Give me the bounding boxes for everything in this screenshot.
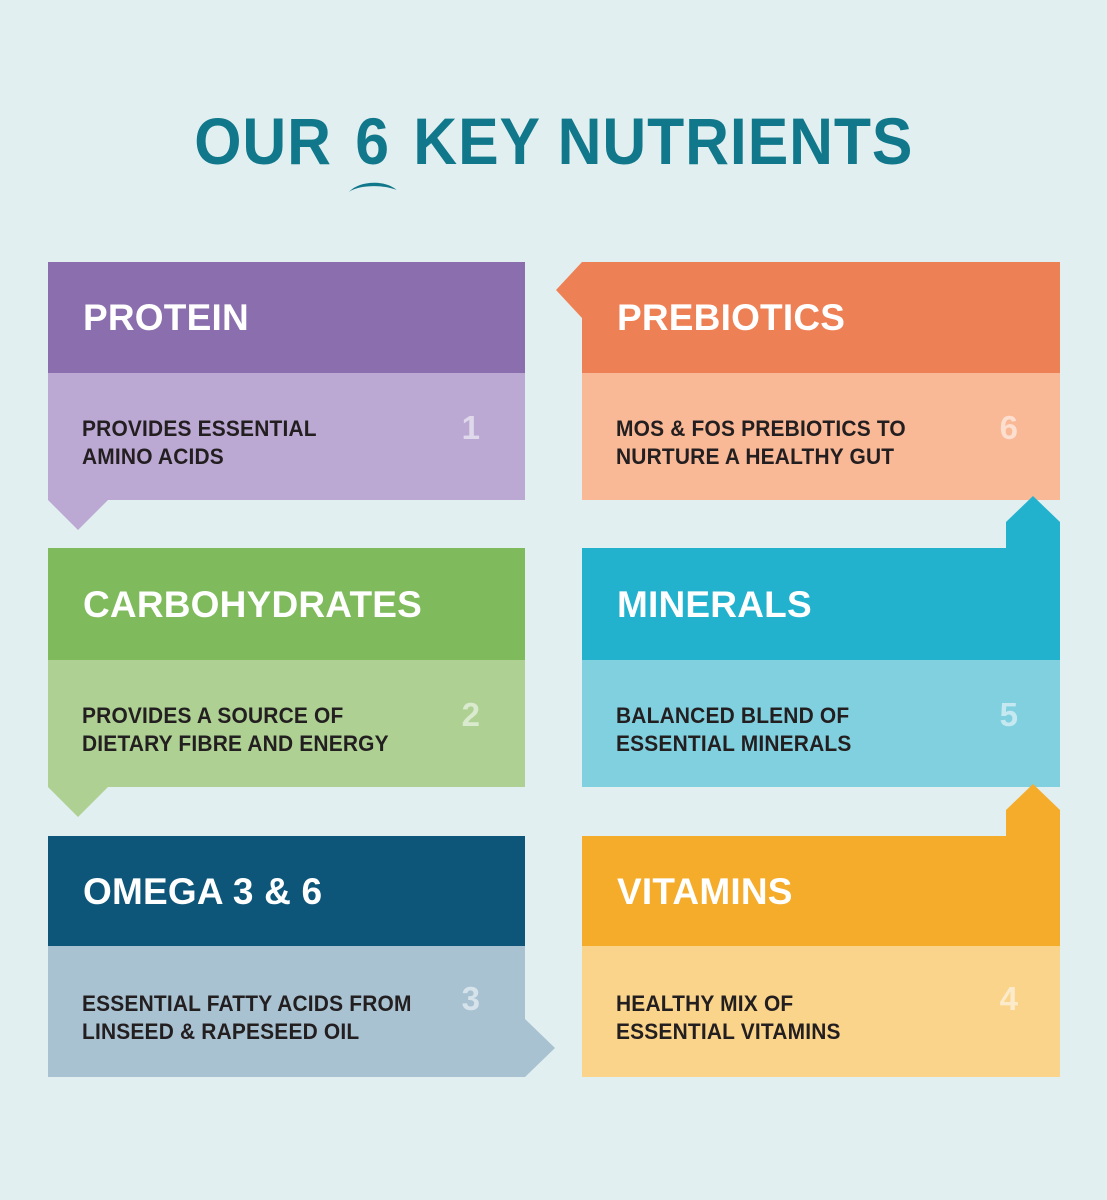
card-description: MOS & FOS PREBIOTICS TO NURTURE A HEALTH… — [616, 415, 906, 471]
pointer-tail-down-icon — [48, 787, 108, 817]
nutrient-card-prebiotics[interactable]: PREBIOTICS MOS & FOS PREBIOTICS TO NURTU… — [582, 262, 1060, 500]
card-title: CARBOHYDRATES — [83, 586, 422, 623]
card-title: OMEGA 3 & 6 — [83, 873, 322, 910]
card-number: 1 — [462, 411, 480, 444]
card-description: ESSENTIAL FATTY ACIDS FROM LINSEED & RAP… — [82, 990, 412, 1046]
card-header: MINERALS — [582, 548, 1060, 660]
card-title: PROTEIN — [83, 299, 249, 336]
card-number: 2 — [462, 698, 480, 731]
nutrient-card-vitamins[interactable]: VITAMINS HEALTHY MIX OF ESSENTIAL VITAMI… — [582, 836, 1060, 1077]
card-description: PROVIDES A SOURCE OF DIETARY FIBRE AND E… — [82, 702, 389, 758]
pointer-arrow-up-stem — [1006, 810, 1060, 836]
card-description: BALANCED BLEND OF ESSENTIAL MINERALS — [616, 702, 851, 758]
card-body: ESSENTIAL FATTY ACIDS FROM LINSEED & RAP… — [48, 946, 525, 1077]
card-body: PROVIDES ESSENTIAL AMINO ACIDS 1 — [48, 373, 525, 500]
card-header: VITAMINS — [582, 836, 1060, 946]
card-description: HEALTHY MIX OF ESSENTIAL VITAMINS — [616, 990, 841, 1046]
nutrient-card-omega[interactable]: OMEGA 3 & 6 ESSENTIAL FATTY ACIDS FROM L… — [48, 836, 525, 1077]
pointer-arrow-up-stem — [1006, 522, 1060, 548]
nutrient-card-minerals[interactable]: MINERALS BALANCED BLEND OF ESSENTIAL MIN… — [582, 548, 1060, 787]
card-number: 5 — [1000, 698, 1018, 731]
card-title: MINERALS — [617, 586, 812, 623]
card-description: PROVIDES ESSENTIAL AMINO ACIDS — [82, 415, 317, 471]
pointer-arrow-right-icon — [525, 1019, 555, 1077]
card-body: BALANCED BLEND OF ESSENTIAL MINERALS 5 — [582, 660, 1060, 787]
card-body: PROVIDES A SOURCE OF DIETARY FIBRE AND E… — [48, 660, 525, 787]
card-header: PROTEIN — [48, 262, 525, 373]
nutrient-card-carbohydrates[interactable]: CARBOHYDRATES PROVIDES A SOURCE OF DIETA… — [48, 548, 525, 787]
card-number: 3 — [462, 982, 480, 1015]
card-body: HEALTHY MIX OF ESSENTIAL VITAMINS 4 — [582, 946, 1060, 1077]
card-header: CARBOHYDRATES — [48, 548, 525, 660]
pointer-arrow-up-icon — [1006, 496, 1060, 522]
card-title: VITAMINS — [617, 873, 793, 910]
nutrient-card-grid: PROTEIN PROVIDES ESSENTIAL AMINO ACIDS 1… — [0, 0, 1107, 1200]
pointer-tail-down-icon — [48, 500, 108, 530]
card-header: OMEGA 3 & 6 — [48, 836, 525, 946]
card-title: PREBIOTICS — [617, 299, 845, 336]
card-number: 6 — [1000, 411, 1018, 444]
card-header: PREBIOTICS — [582, 262, 1060, 373]
pointer-arrow-up-icon — [1006, 784, 1060, 810]
nutrient-card-protein[interactable]: PROTEIN PROVIDES ESSENTIAL AMINO ACIDS 1 — [48, 262, 525, 500]
pointer-notch-left-icon — [556, 262, 582, 318]
card-body: MOS & FOS PREBIOTICS TO NURTURE A HEALTH… — [582, 373, 1060, 500]
card-number: 4 — [1000, 982, 1018, 1015]
